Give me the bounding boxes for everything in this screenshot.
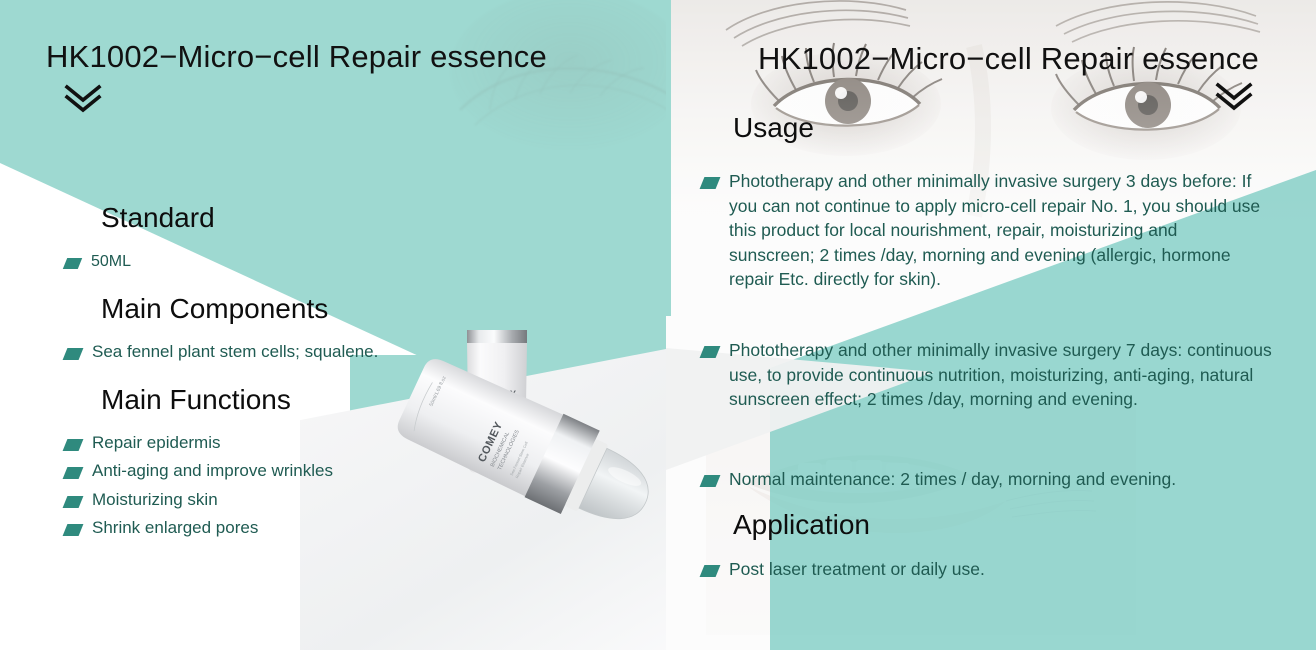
left-page-title: HK1002−Micro−cell Repair essence: [46, 39, 547, 75]
list-item: Sea fennel plant stem cells; squalene.: [65, 340, 485, 363]
list-item-label: Sea fennel plant stem cells; squalene.: [92, 340, 378, 363]
section-heading-application: Application: [733, 509, 870, 541]
list-item: Repair epidermis: [65, 431, 425, 454]
list-item-label: Anti-aging and improve wrinkles: [92, 459, 333, 482]
bullet-marker-icon: [700, 177, 721, 189]
list-item: Post laser treatment or daily use.: [702, 557, 1182, 582]
section-heading-main-components: Main Components: [101, 293, 328, 325]
list-item: 50ML: [65, 251, 395, 272]
list-item: Shrink enlarged pores: [65, 516, 425, 539]
list-item-label: Repair epidermis: [92, 431, 221, 454]
product-info-slide: COMEY BIOCHEMICAL TECHNOLOGIES Sea Fenne…: [0, 0, 1316, 650]
right-page-title: HK1002−Micro−cell Repair essence: [758, 41, 1259, 77]
list-item-label: Phototherapy and other minimally invasiv…: [729, 338, 1277, 412]
bullet-marker-icon: [63, 496, 84, 508]
bullet-marker-icon: [63, 258, 82, 269]
bullet-marker-icon: [63, 467, 84, 479]
bullet-marker-icon: [63, 439, 84, 451]
list-item: Phototherapy and other minimally invasiv…: [702, 169, 1262, 292]
slide-text-content: HK1002−Micro−cell Repair essence Standar…: [0, 0, 1316, 650]
bullet-marker-icon: [700, 475, 721, 487]
section-heading-usage: Usage: [733, 112, 814, 144]
double-chevron-down-icon[interactable]: [62, 82, 104, 114]
list-item: Moisturizing skin: [65, 488, 425, 511]
list-item: Phototherapy and other minimally invasiv…: [702, 338, 1277, 412]
list-item-label: Normal maintenance: 2 times / day, morni…: [729, 467, 1176, 492]
bullet-marker-icon: [700, 565, 721, 577]
list-item-label: 50ML: [91, 251, 131, 272]
list-item-label: Post laser treatment or daily use.: [729, 557, 985, 582]
section-heading-main-functions: Main Functions: [101, 384, 291, 416]
list-item: Anti-aging and improve wrinkles: [65, 459, 465, 482]
list-item: Normal maintenance: 2 times / day, morni…: [702, 467, 1282, 492]
list-item-label: Shrink enlarged pores: [92, 516, 258, 539]
double-chevron-down-icon[interactable]: [1213, 80, 1255, 112]
section-heading-standard: Standard: [101, 202, 215, 234]
bullet-marker-icon: [63, 348, 84, 360]
bullet-marker-icon: [700, 346, 721, 358]
list-item-label: Phototherapy and other minimally invasiv…: [729, 169, 1262, 292]
list-item-label: Moisturizing skin: [92, 488, 218, 511]
bullet-marker-icon: [63, 524, 84, 536]
